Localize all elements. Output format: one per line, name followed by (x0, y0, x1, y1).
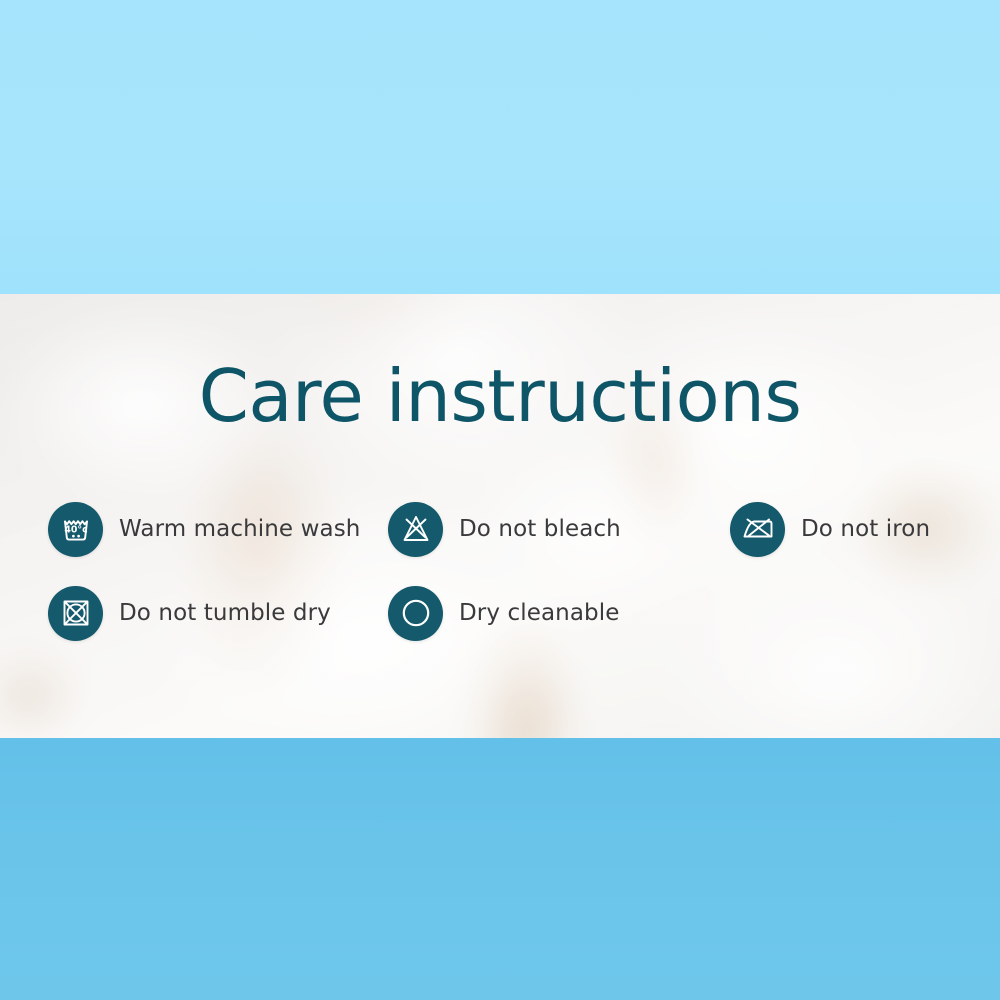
care-item-label: Warm machine wash (119, 515, 360, 543)
do-not-tumble-dry-icon (48, 586, 103, 641)
care-instructions-list: 40°c Warm machine wash Do not bleach (0, 495, 1000, 655)
care-item-warm-machine-wash: 40°c Warm machine wash (48, 495, 360, 563)
care-item-do-not-tumble-dry: Do not tumble dry (48, 579, 331, 647)
washtub-40c-icon: 40°c (48, 502, 103, 557)
care-item-do-not-iron: Do not iron (730, 495, 930, 563)
care-item-label: Do not tumble dry (119, 599, 331, 627)
care-item-do-not-bleach: Do not bleach (388, 495, 621, 563)
care-item-label: Do not iron (801, 515, 930, 543)
care-item-dry-cleanable: Dry cleanable (388, 579, 619, 647)
do-not-iron-icon (730, 502, 785, 557)
dry-clean-circle-icon (388, 586, 443, 641)
top-blue-band (0, 0, 1000, 294)
do-not-bleach-icon (388, 502, 443, 557)
svg-text:40°c: 40°c (64, 525, 87, 536)
care-instructions-banner: Care instructions 40°c Warm machine wash (0, 0, 1000, 1000)
care-item-label: Do not bleach (459, 515, 621, 543)
bottom-blue-band (0, 738, 1000, 1000)
care-item-label: Dry cleanable (459, 599, 619, 627)
page-title: Care instructions (0, 358, 1000, 434)
